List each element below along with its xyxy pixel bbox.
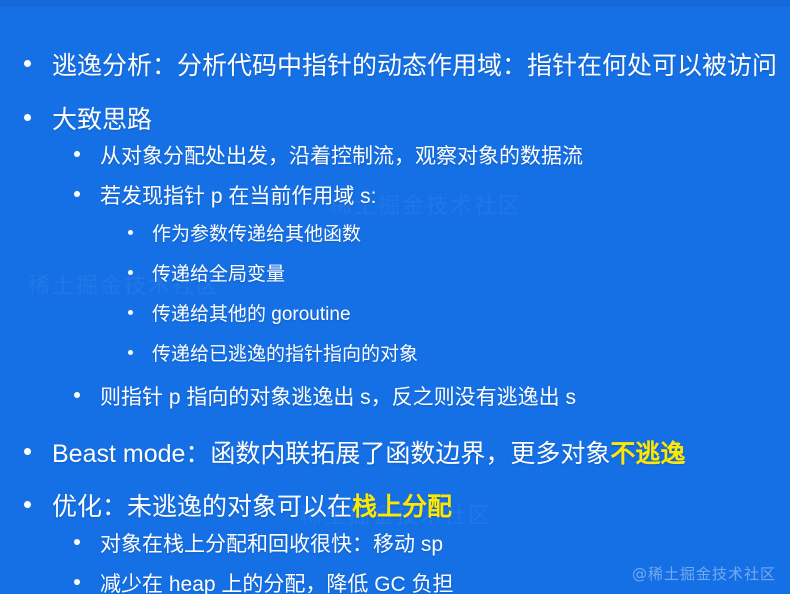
presentation-slide: 稀土掘金技术社区 稀土掘金技术社区 稀土掘金技术社区 逃逸分析：分析代码中指针的… xyxy=(0,0,790,594)
bullet-item-pass-to-escaped-object: 传递给已逃逸的指针指向的对象 xyxy=(128,339,418,366)
bullet-text: 从对象分配处出发，沿着控制流，观察对象的数据流 xyxy=(100,140,583,170)
bullet-marker-icon xyxy=(24,60,31,67)
bullet-marker-icon xyxy=(74,579,80,585)
bullet-text: 传递给已逃逸的指针指向的对象 xyxy=(152,339,418,366)
bullet-highlight-no-escape: 不逃逸 xyxy=(610,434,685,470)
bullet-marker-icon xyxy=(128,270,133,275)
bullet-marker-icon xyxy=(128,230,133,235)
bullet-text: Beast mode：函数内联拓展了函数边界，更多对象 xyxy=(52,434,610,470)
bullet-marker-icon xyxy=(24,501,31,508)
bullet-item-stack-speed: 对象在栈上分配和回收很快：移动 sp xyxy=(74,528,443,558)
bullet-text: 对象在栈上分配和回收很快：移动 sp xyxy=(100,528,443,558)
bullet-item-pointer-scope: 若发现指针 p 在当前作用域 s: xyxy=(74,180,377,210)
bullet-text: 逃逸分析：分析代码中指针的动态作用域：指针在何处可以被访问 xyxy=(52,46,777,82)
slide-content: 逃逸分析：分析代码中指针的动态作用域：指针在何处可以被访问 大致思路 从对象分配… xyxy=(0,0,790,594)
bullet-marker-icon xyxy=(24,114,31,121)
bullet-item-general-idea: 大致思路 xyxy=(24,100,152,136)
bullet-marker-icon xyxy=(74,392,80,398)
bullet-marker-icon xyxy=(128,350,133,355)
bullet-highlight-stack-alloc: 栈上分配 xyxy=(352,487,452,523)
bullet-item-dataflow: 从对象分配处出发，沿着控制流，观察对象的数据流 xyxy=(74,140,583,170)
corner-watermark: @稀土掘金技术社区 xyxy=(632,563,776,584)
bullet-text: 则指针 p 指向的对象逃逸出 s，反之则没有逃逸出 s xyxy=(100,381,576,411)
bullet-marker-icon xyxy=(74,191,80,197)
bullet-item-pass-to-global: 传递给全局变量 xyxy=(128,259,285,286)
bullet-item-pass-as-argument: 作为参数传递给其他函数 xyxy=(128,219,361,246)
bullet-item-escape-conclusion: 则指针 p 指向的对象逃逸出 s，反之则没有逃逸出 s xyxy=(74,381,576,411)
bullet-text: 若发现指针 p 在当前作用域 s: xyxy=(100,180,377,210)
bullet-text: 作为参数传递给其他函数 xyxy=(152,219,361,246)
bullet-item-escape-analysis: 逃逸分析：分析代码中指针的动态作用域：指针在何处可以被访问 xyxy=(24,46,777,82)
bullet-item-optimization: 优化：未逃逸的对象可以在栈上分配 xyxy=(24,487,452,523)
bullet-text: 优化：未逃逸的对象可以在 xyxy=(52,487,352,523)
bullet-item-pass-to-goroutine: 传递给其他的 goroutine xyxy=(128,299,351,326)
bullet-text: 大致思路 xyxy=(52,100,152,136)
bullet-item-gc-reduction: 减少在 heap 上的分配，降低 GC 负担 xyxy=(74,568,454,594)
bullet-text: 减少在 heap 上的分配，降低 GC 负担 xyxy=(100,568,454,594)
bullet-marker-icon xyxy=(128,310,133,315)
bullet-marker-icon xyxy=(74,151,80,157)
bullet-text: 传递给其他的 goroutine xyxy=(152,299,351,326)
bullet-item-beast-mode: Beast mode：函数内联拓展了函数边界，更多对象不逃逸 xyxy=(24,434,685,470)
bullet-marker-icon xyxy=(74,539,80,545)
bullet-text: 传递给全局变量 xyxy=(152,259,285,286)
bullet-marker-icon xyxy=(24,448,31,455)
